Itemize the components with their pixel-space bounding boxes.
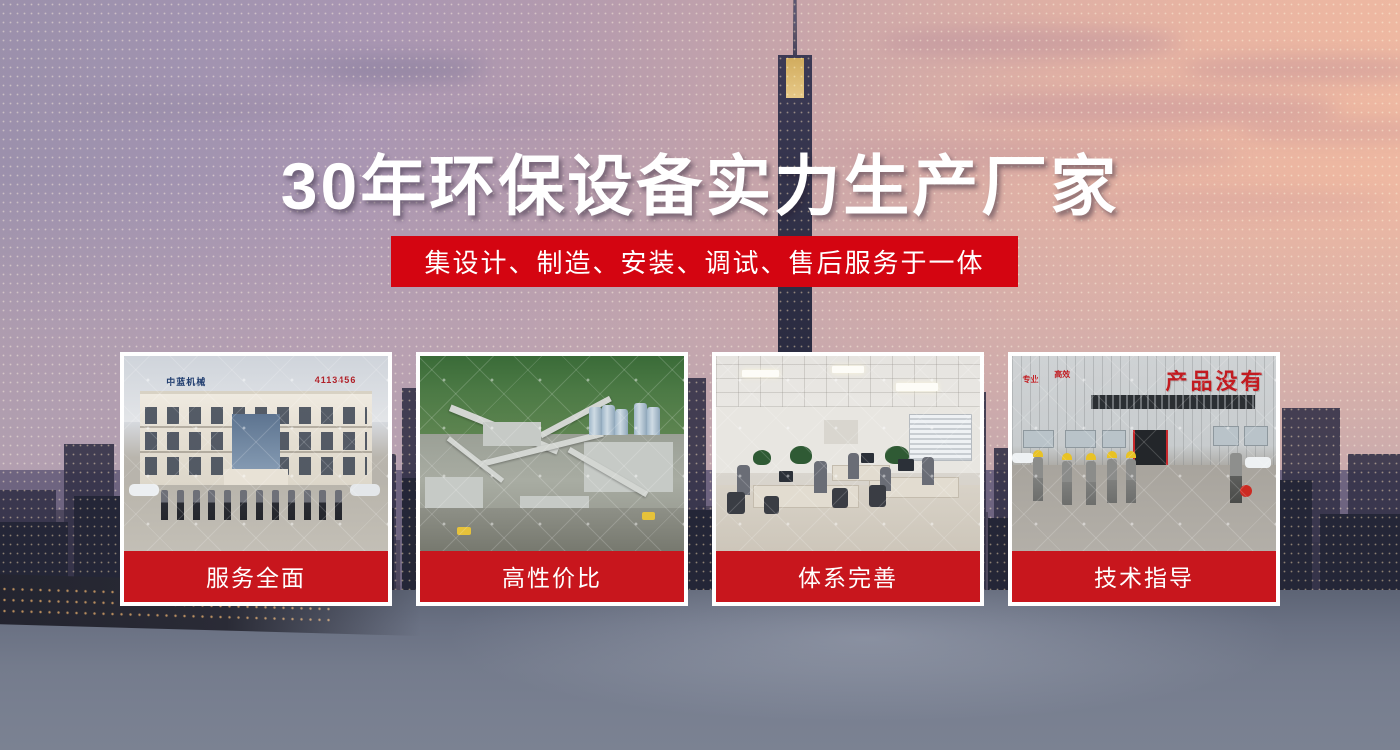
page-title: 30年环保设备实力生产厂家 xyxy=(0,133,1400,229)
building-sign-phone: 4113456 xyxy=(315,375,357,385)
feature-card-4[interactable]: 产品没有 专业 高效 xyxy=(1008,352,1280,606)
card-label-4: 技术指导 xyxy=(1012,551,1276,602)
factory-wall-slogan: 产品没有 xyxy=(1165,364,1265,396)
subtitle-banner: 集设计、制造、安装、调试、售后服务于一体 xyxy=(391,236,1018,287)
subtitle-text: 集设计、制造、安装、调试、售后服务于一体 xyxy=(424,243,984,280)
feature-card-1[interactable]: 中蓝机械 4113456 xyxy=(120,352,392,606)
card-label-3: 体系完善 xyxy=(716,551,980,602)
photo-factory-workers: 产品没有 专业 高效 xyxy=(1012,356,1276,551)
building-sign-name: 中蓝机械 xyxy=(166,375,206,388)
factory-wall-slogan-small-1: 专业 xyxy=(1023,375,1039,384)
photo-industrial-plant xyxy=(420,356,684,551)
feature-card-row: 中蓝机械 4113456 xyxy=(120,352,1280,606)
feature-card-3[interactable]: 体系完善 xyxy=(712,352,984,606)
card-label-2: 高性价比 xyxy=(420,551,684,602)
photo-office-interior xyxy=(716,356,980,551)
card-label-1: 服务全面 xyxy=(124,551,388,602)
feature-card-2[interactable]: 高性价比 xyxy=(416,352,688,606)
promo-banner: 30年环保设备实力生产厂家 集设计、制造、安装、调试、售后服务于一体 中蓝机械 … xyxy=(0,0,1400,750)
factory-wall-slogan-small-2: 高效 xyxy=(1054,370,1070,379)
photo-office-building: 中蓝机械 4113456 xyxy=(124,356,388,551)
